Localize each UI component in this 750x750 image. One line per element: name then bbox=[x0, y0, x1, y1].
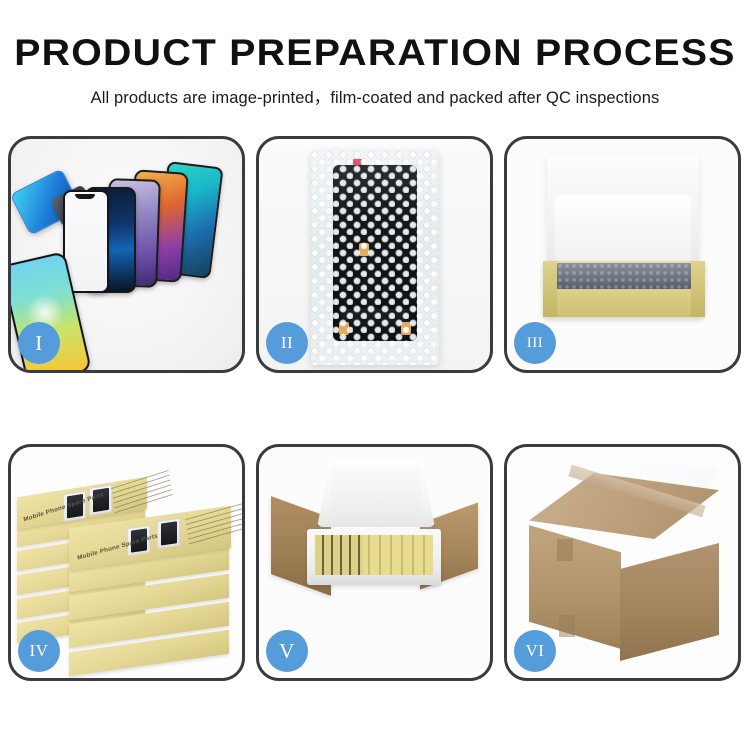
process-step-4: Mobile Phone Spare Parts Mobile Phone Sp… bbox=[8, 444, 245, 681]
carton-tape-mark-top bbox=[557, 539, 573, 561]
process-step-3: III bbox=[504, 136, 741, 373]
step-numeral-2: II bbox=[281, 333, 293, 353]
bubble-wrap-bag bbox=[311, 151, 439, 365]
step-numeral-1: I bbox=[35, 331, 43, 356]
packed-yellow-boxes-edge bbox=[315, 535, 363, 575]
page-subtitle: All products are image-printed，film-coat… bbox=[0, 84, 750, 108]
box-photo-label-d bbox=[157, 518, 180, 549]
step-badge-3: III bbox=[514, 322, 556, 364]
step-badge-1: I bbox=[18, 322, 60, 364]
bubble-texture bbox=[311, 151, 439, 365]
process-step-1: I bbox=[8, 136, 245, 373]
page-title: PRODUCT PREPARATION PROCESS bbox=[0, 34, 750, 73]
step-numeral-6: VI bbox=[526, 641, 545, 661]
infographic-page: PRODUCT PREPARATION PROCESS All products… bbox=[0, 0, 750, 750]
step-badge-6: VI bbox=[514, 630, 556, 672]
step-numeral-5: V bbox=[279, 639, 295, 664]
step-badge-2: II bbox=[266, 322, 308, 364]
yellow-inner-box bbox=[543, 261, 705, 317]
outer-carton-body bbox=[295, 573, 455, 657]
step-badge-4: IV bbox=[18, 630, 60, 672]
white-foam-lid bbox=[547, 155, 699, 271]
process-step-6: VI bbox=[504, 444, 741, 681]
step-badge-5: V bbox=[266, 630, 308, 672]
header: PRODUCT PREPARATION PROCESS All products… bbox=[0, 0, 750, 108]
packed-screens-bubble bbox=[557, 263, 691, 289]
process-step-5: V bbox=[256, 444, 493, 681]
process-step-grid: I II bbox=[8, 136, 742, 692]
step-numeral-4: IV bbox=[30, 641, 49, 661]
process-step-2: II bbox=[256, 136, 493, 373]
styrofoam-lid bbox=[317, 459, 435, 527]
step-numeral-3: III bbox=[527, 335, 544, 352]
carton-tape-mark-bottom bbox=[559, 615, 575, 637]
